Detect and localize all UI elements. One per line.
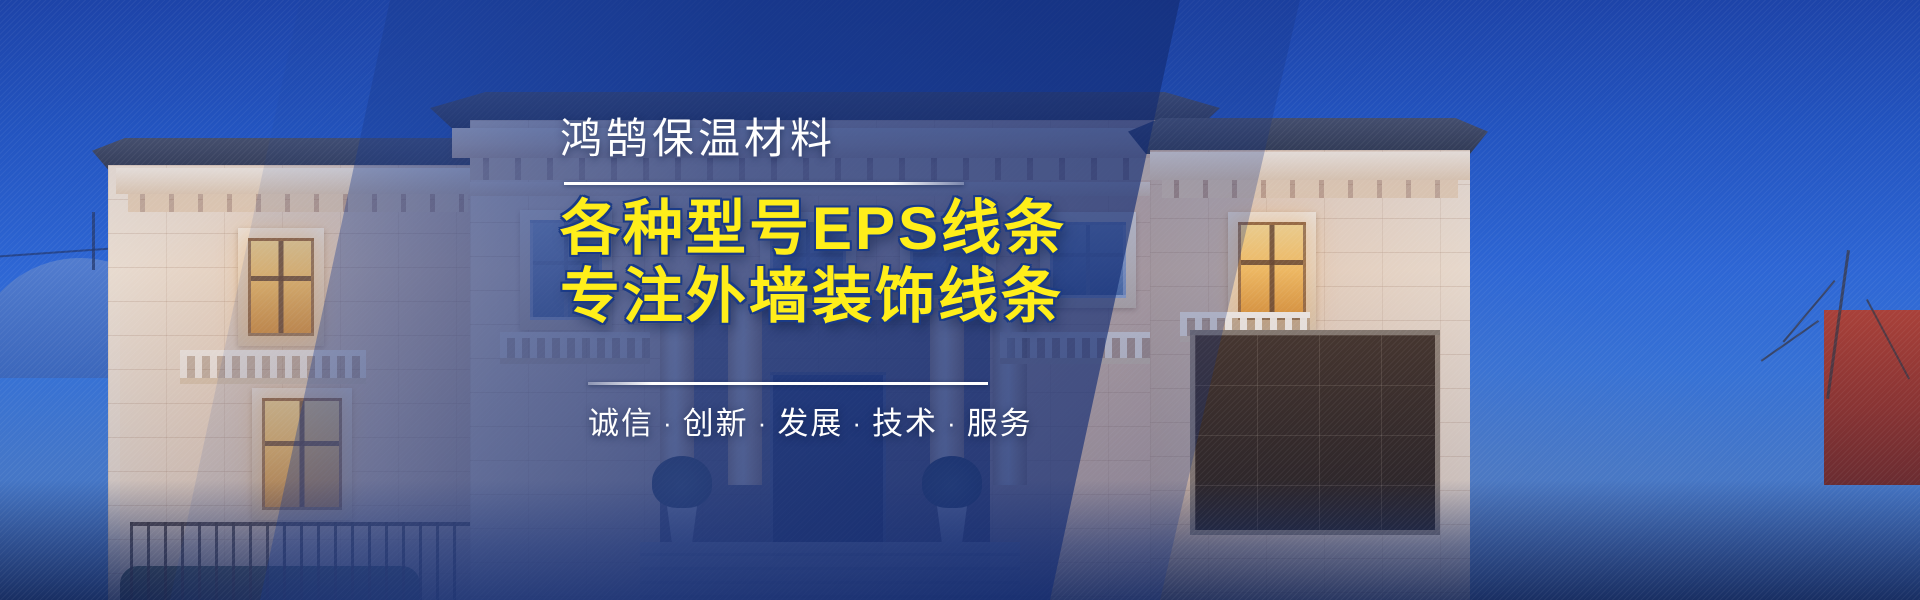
tagline-item-1: 创新 — [683, 406, 749, 441]
banner-content: 鸿鹄保温材料 各种型号EPS线条 专注外墙装饰线条 诚信·创新·发展·技术·服务 — [560, 0, 1320, 600]
hero-banner: 鸿鹄保温材料 各种型号EPS线条 专注外墙装饰线条 诚信·创新·发展·技术·服务 — [0, 0, 1920, 600]
left-wing-dentils — [128, 194, 468, 212]
divider-top — [564, 182, 964, 185]
lit-window — [248, 238, 314, 336]
tagline-item-0: 诚信 — [588, 406, 654, 441]
headline-line-1: 各种型号EPS线条 — [560, 195, 1320, 263]
divider-bottom — [588, 382, 988, 385]
tagline-separator: · — [938, 408, 967, 438]
brand-name: 鸿鹄保温材料 — [560, 105, 836, 166]
balustrade — [180, 350, 366, 384]
red-container — [1824, 310, 1920, 485]
tagline-item-4: 服务 — [967, 406, 1033, 441]
tagline-separator: · — [749, 408, 778, 438]
tagline-separator: · — [843, 408, 872, 438]
headline-line-2: 专注外墙装饰线条 — [560, 263, 1320, 331]
tagline-separator: · — [654, 408, 683, 438]
tagline-item-3: 技术 — [872, 406, 938, 441]
tagline-item-2: 发展 — [777, 406, 843, 441]
distant-mast — [92, 212, 95, 270]
headline: 各种型号EPS线条 专注外墙装饰线条 — [560, 195, 1320, 331]
tagline: 诚信·创新·发展·技术·服务 — [588, 398, 1033, 443]
left-wing-cornice — [116, 168, 478, 194]
